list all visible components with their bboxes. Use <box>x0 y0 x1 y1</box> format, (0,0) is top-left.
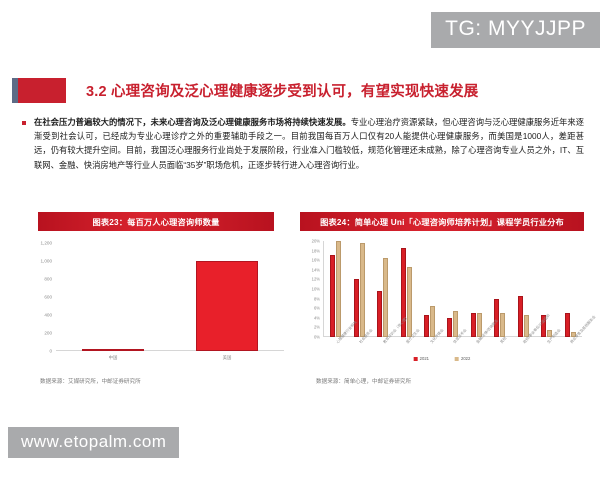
bar-group <box>559 241 582 337</box>
bar-series-left <box>56 243 284 351</box>
legend-item: 2022 <box>455 356 470 361</box>
bar-column <box>75 243 150 351</box>
bullet-square-icon <box>22 121 26 125</box>
x-tick-cell: 其他 <box>488 337 511 369</box>
x-tick-cell: 文化传媒业 <box>418 337 441 369</box>
y-tick-label: 800 <box>22 277 52 282</box>
y-tick-label: 0 <box>22 349 52 354</box>
body-paragraph: 在社会压力普遍较大的情况下，未来心理咨询及泛心理健康服务市场将持续快速发展。专业… <box>34 115 584 172</box>
legend-label: 2021 <box>420 356 429 361</box>
bar <box>500 313 505 337</box>
heading-accent-bar <box>12 78 66 103</box>
bar <box>407 267 412 337</box>
chart-card-left: 图表23：每百万人心理咨询师数量 02004006008001,0001,200… <box>22 212 290 390</box>
bar <box>354 279 359 337</box>
y-tick-label: 18% <box>298 248 320 253</box>
bar-group <box>465 241 488 337</box>
y-tick-label: 16% <box>298 258 320 263</box>
bar <box>383 258 388 337</box>
bar-group <box>512 241 535 337</box>
chart-title-right: 图表24：简单心理 Uni「心理咨询师培养计划」课程学员行业分布 <box>300 212 584 231</box>
y-tick-label: 400 <box>22 313 52 318</box>
bar <box>518 296 523 337</box>
chart-title-left: 图表23：每百万人心理咨询师数量 <box>38 212 274 231</box>
y-tick-label: 600 <box>22 295 52 300</box>
x-tick-cell: 教育培训业（非心理） <box>371 337 394 369</box>
legend-label: 2022 <box>461 356 470 361</box>
bar <box>424 315 429 337</box>
chart-plot-left: 02004006008001,0001,200 中国美国 <box>22 239 290 369</box>
x-tick-cell: 社会服务业 <box>347 337 370 369</box>
chart-plot-right: 0%2%4%6%8%10%12%14%16%18%20% 心理健康行业相关社会服… <box>298 239 586 369</box>
slide-canvas: 3.2 心理咨询及泛心理健康逐步受到认可，有望实现快速发展 在社会压力普遍较大的… <box>0 0 600 480</box>
y-tick-label: 20% <box>298 239 320 244</box>
bar <box>447 318 452 337</box>
bar <box>82 349 144 351</box>
x-tick-cell: 政府/事业单位/公益组织 <box>512 337 535 369</box>
x-tick-cell: 商业零售及其他服务业 <box>559 337 582 369</box>
bar-group <box>371 241 394 337</box>
x-tick-label: 美国 <box>223 355 232 361</box>
bar-group <box>441 241 464 337</box>
bar <box>377 291 382 337</box>
y-tick-label: 0% <box>298 335 320 340</box>
y-tick-label: 8% <box>298 296 320 301</box>
bar <box>471 313 476 337</box>
body-bullet: 在社会压力普遍较大的情况下，未来心理咨询及泛心理健康服务市场将持续快速发展。专业… <box>22 115 584 172</box>
bar <box>453 311 458 337</box>
y-tick-label: 14% <box>298 267 320 272</box>
y-tick-label: 12% <box>298 277 320 282</box>
y-tick-label: 200 <box>22 331 52 336</box>
watermark-bottom-left: www.etopalm.com <box>8 427 179 458</box>
bar <box>330 255 335 337</box>
chart-source-right: 数据来源：简单心理，中邮证券研究所 <box>298 377 586 385</box>
bar <box>336 241 341 337</box>
bar-group <box>324 241 347 337</box>
x-tick-cell: 信息技术业 <box>441 337 464 369</box>
bar <box>430 306 435 337</box>
legend-swatch-icon <box>414 357 418 361</box>
legend-swatch-icon <box>455 357 459 361</box>
x-axis-labels-right: 心理健康行业相关社会服务业教育培训业（非心理）医疗卫生业文化传媒业信息技术业金融… <box>324 337 582 369</box>
y-tick-label: 1,000 <box>22 259 52 264</box>
body-paragraph-lead: 在社会压力普遍较大的情况下，未来心理咨询及泛心理健康服务市场将持续快速发展。 <box>34 117 351 127</box>
y-tick-label: 10% <box>298 287 320 292</box>
y-tick-label: 6% <box>298 306 320 311</box>
x-tick-label: 中国 <box>109 355 118 361</box>
x-tick-cell: 金融/法律/咨询服务 <box>465 337 488 369</box>
y-tick-label: 4% <box>298 315 320 320</box>
bar-group <box>418 241 441 337</box>
x-tick-cell: 心理健康行业相关 <box>324 337 347 369</box>
x-tick-cell: 生产制造业 <box>535 337 558 369</box>
x-tick-label: 其他 <box>499 336 508 345</box>
x-tick-cell: 医疗卫生业 <box>394 337 417 369</box>
chart-card-right: 图表24：简单心理 Uni「心理咨询师培养计划」课程学员行业分布 0%2%4%6… <box>298 212 586 390</box>
bar-column <box>189 243 264 351</box>
y-tick-label: 1,200 <box>22 241 52 246</box>
chart-source-left: 数据来源：艾媒研究所，中邮证券研究所 <box>22 377 290 385</box>
legend-item: 2021 <box>414 356 429 361</box>
page-title: 3.2 心理咨询及泛心理健康逐步受到认可，有望实现快速发展 <box>86 80 478 101</box>
chart-legend-right: 20212022 <box>414 356 471 361</box>
y-tick-label: 2% <box>298 325 320 330</box>
bar <box>360 243 365 337</box>
bar <box>196 261 258 351</box>
section-heading: 3.2 心理咨询及泛心理健康逐步受到认可，有望实现快速发展 <box>12 77 478 103</box>
watermark-top-right: TG: MYYJJPP <box>431 12 600 48</box>
bar <box>565 313 570 337</box>
